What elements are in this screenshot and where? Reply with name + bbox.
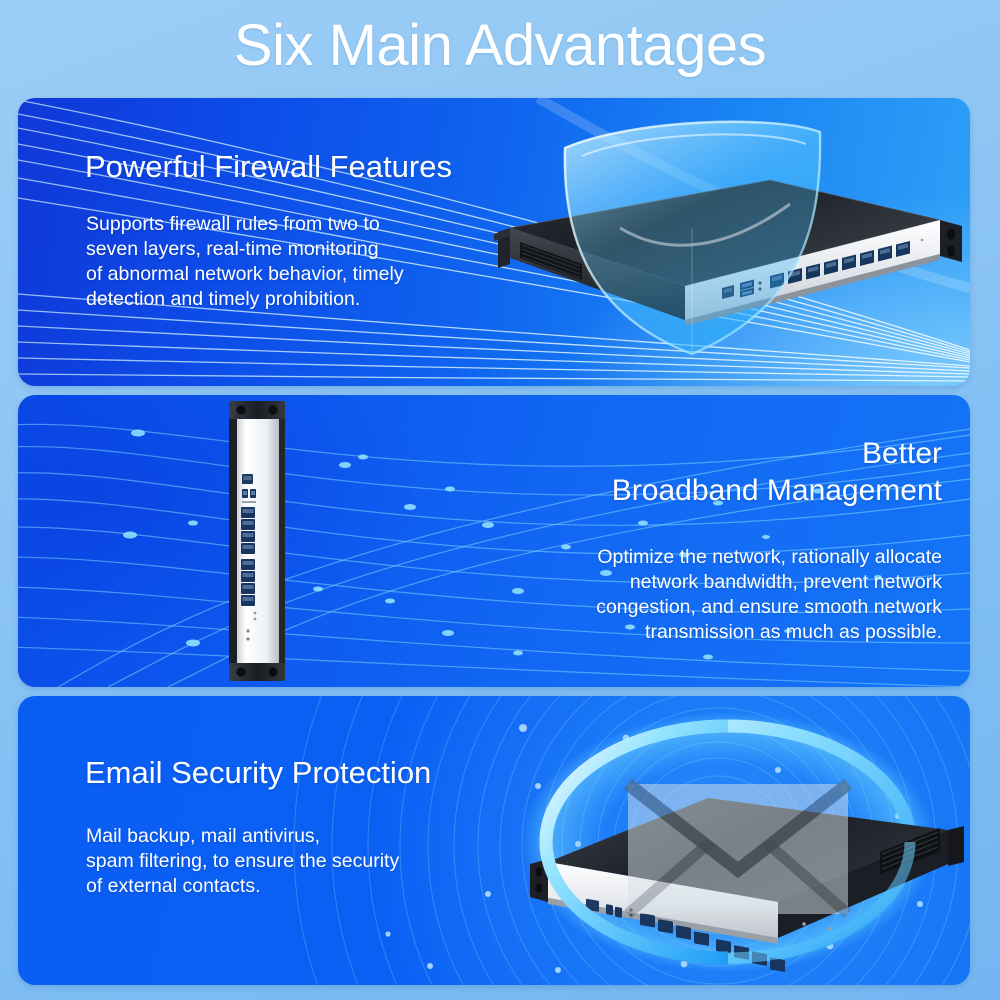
page-title: Six Main Advantages <box>0 6 1000 86</box>
advantage-card-firewall[interactable]: Powerful Firewall Features Supports fire… <box>18 98 970 386</box>
card-body-text: Optimize the network, rationally allocat… <box>596 545 942 645</box>
card-heading: Powerful Firewall Features <box>85 148 452 186</box>
card-heading: Email Security Protection <box>85 754 431 792</box>
advantage-card-broadband[interactable]: Better Broadband Management Optimize the… <box>18 395 970 687</box>
advantage-card-email-security[interactable]: Email Security Protection Mail backup, m… <box>18 696 970 985</box>
card-body-text: Supports firewall rules from two to seve… <box>86 212 404 312</box>
card-body-text: Mail backup, mail antivirus, spam filter… <box>86 824 399 899</box>
card-heading: Better Broadband Management <box>612 435 942 509</box>
